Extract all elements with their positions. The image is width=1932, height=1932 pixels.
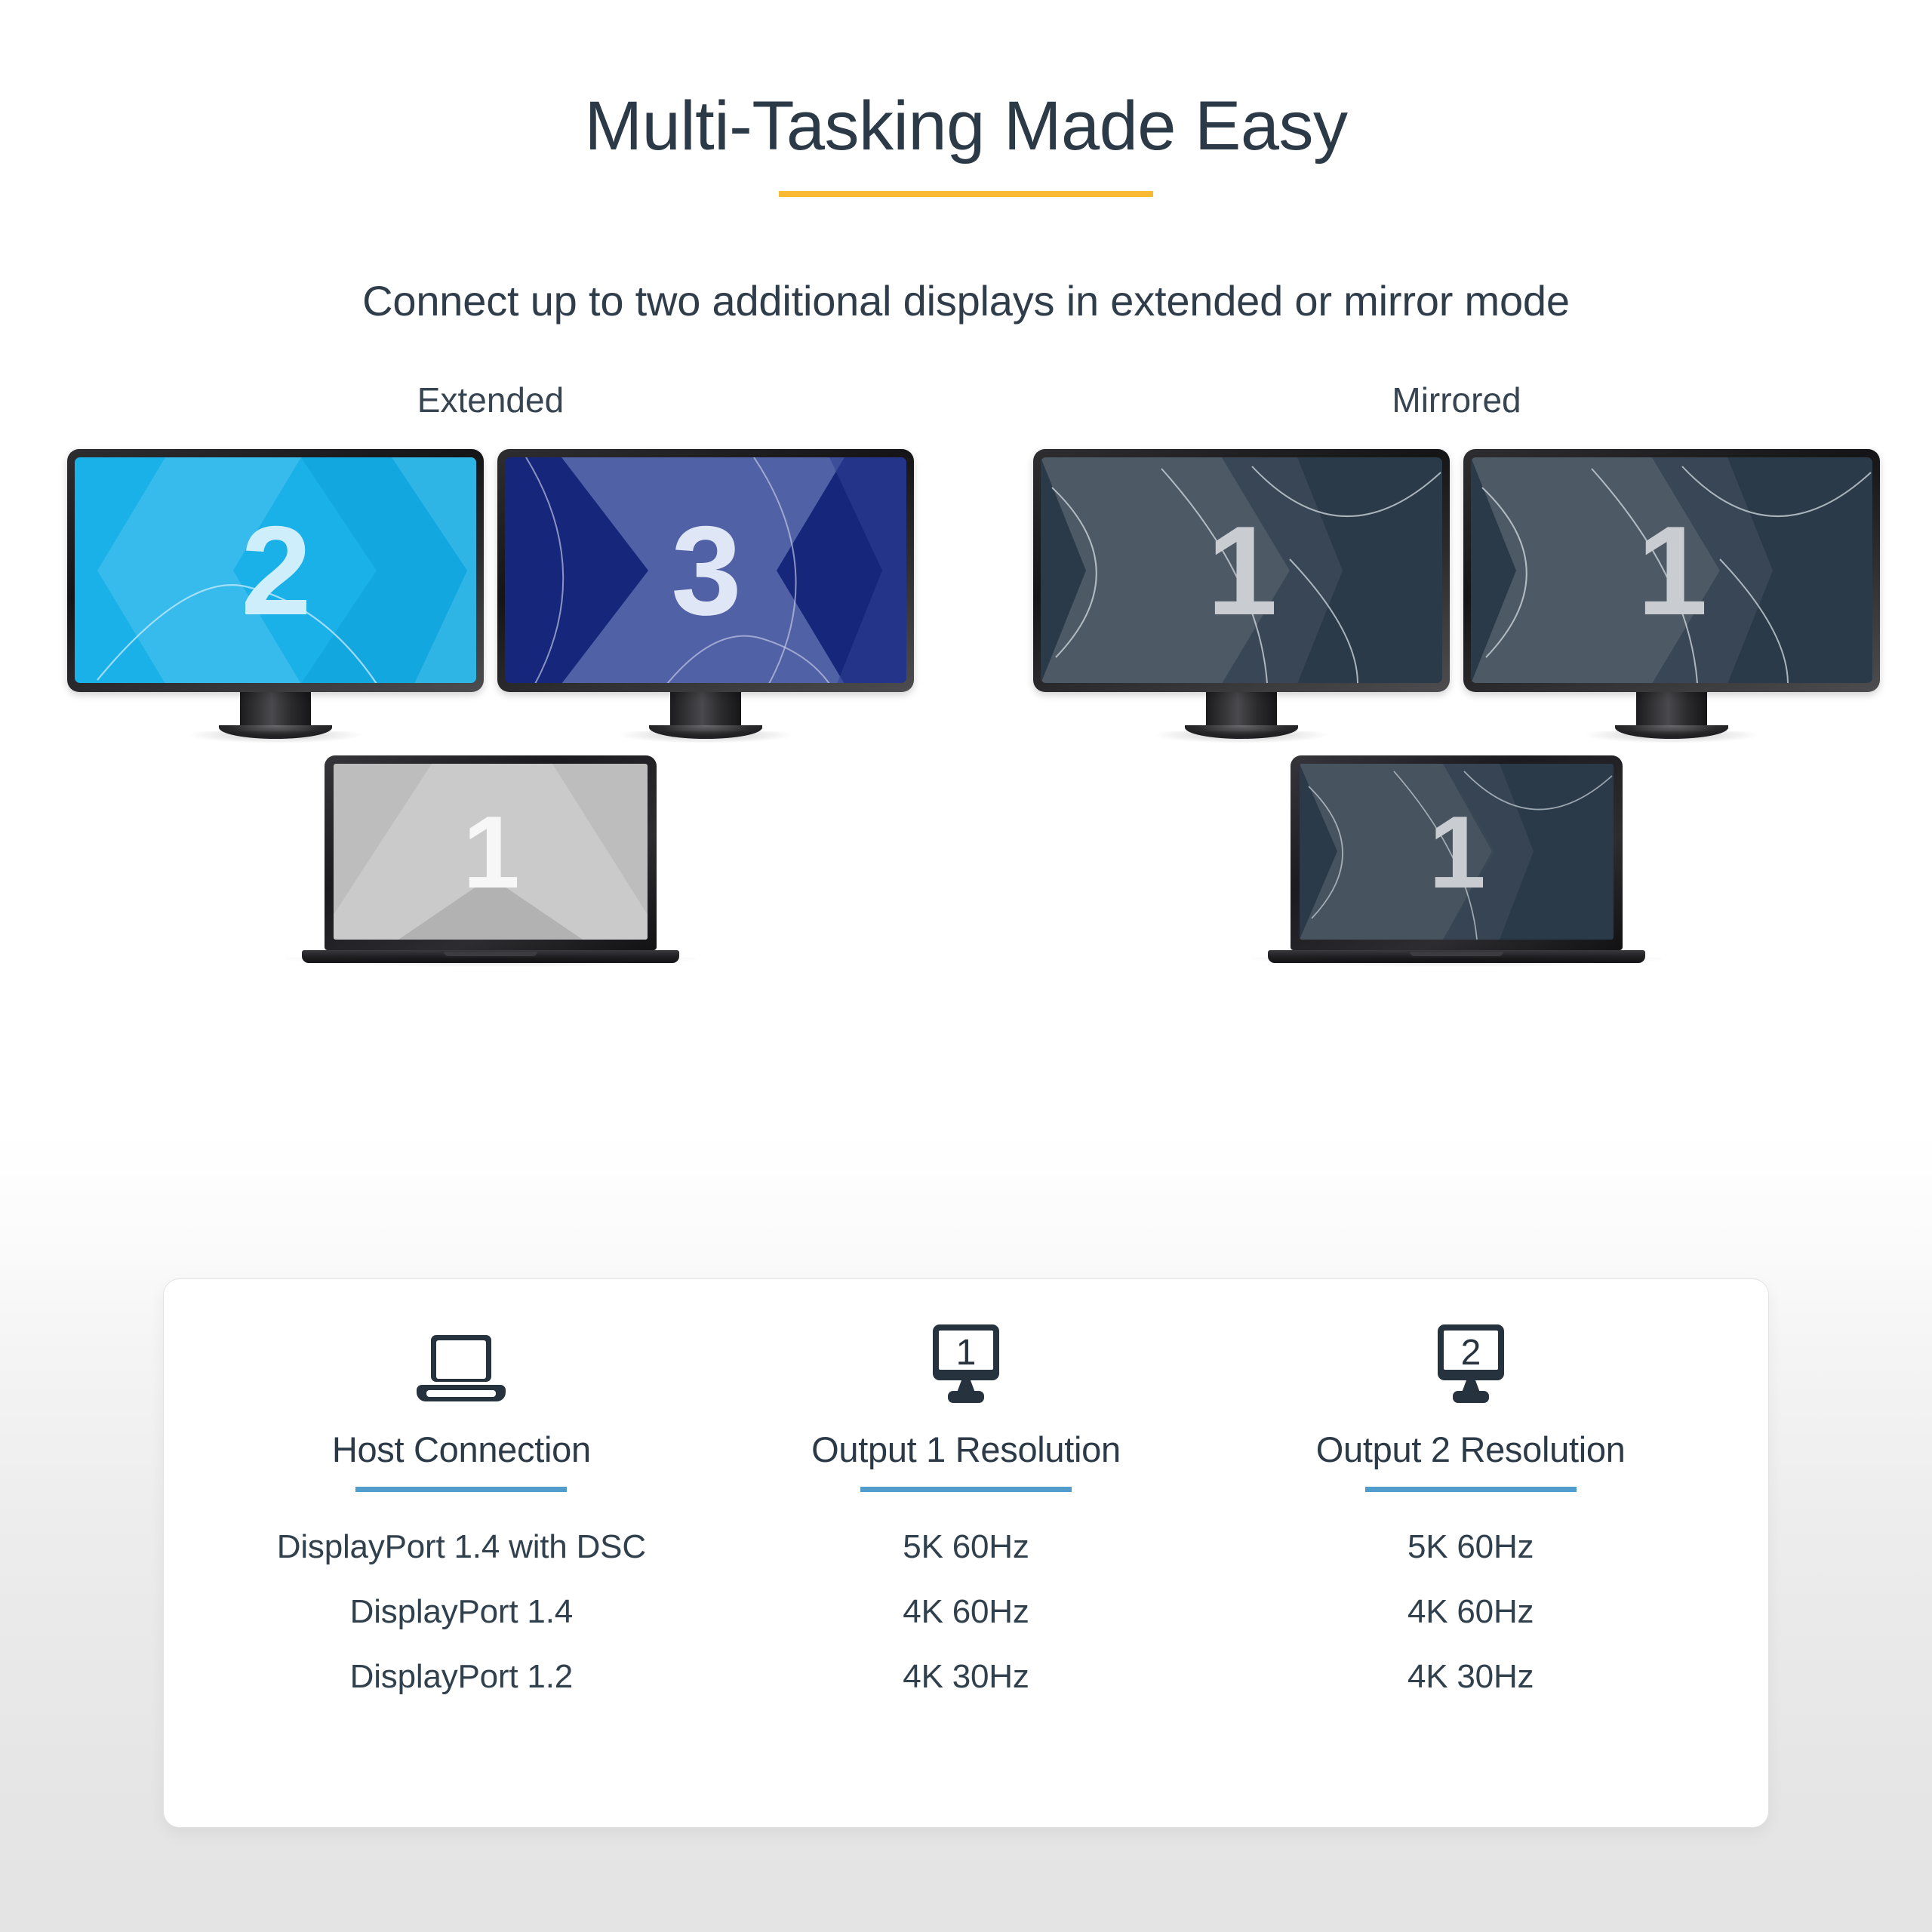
monitor-neck xyxy=(670,692,741,725)
mode-group-extended: Extended 2 xyxy=(45,380,936,963)
spec-column-rule xyxy=(1365,1487,1577,1492)
spec-column-output1: 1 Output 1 Resolution xyxy=(714,1318,1219,1492)
monitor-foot xyxy=(649,725,762,739)
monitor-extended-3: 3 xyxy=(497,449,914,739)
page-subtitle: Connect up to two additional displays in… xyxy=(0,276,1932,325)
monitor-screen-number: 1 xyxy=(1471,457,1872,683)
cell-host: DisplayPort 1.4 with DSC xyxy=(209,1528,714,1566)
mode-group-mirrored: Mirrored 1 xyxy=(1011,380,1902,963)
monitor-screen-number: 3 xyxy=(505,457,906,683)
svg-text:1: 1 xyxy=(956,1333,977,1373)
monitor-mirrored-1b: 1 xyxy=(1463,449,1880,739)
monitor-extended-2: 2 xyxy=(67,449,484,739)
table-row: DisplayPort 1.4 with DSC 5K 60Hz 5K 60Hz xyxy=(209,1528,1723,1566)
page-title: Multi-Tasking Made Easy xyxy=(0,89,1932,164)
laptop-extended: 1 xyxy=(302,755,679,963)
spec-table-header: Host Connection 1 Output 1 Resolution xyxy=(164,1279,1768,1492)
monitor-neck xyxy=(1636,692,1707,725)
cell-output1: 4K 60Hz xyxy=(714,1593,1219,1631)
monitor-bezel: 2 xyxy=(67,449,484,692)
monitor-neck xyxy=(240,692,311,725)
monitor-foot xyxy=(1185,725,1298,739)
laptop-base xyxy=(1268,950,1645,963)
spec-column-rule xyxy=(860,1487,1072,1492)
mode-label-extended: Extended xyxy=(45,380,936,420)
cell-host: DisplayPort 1.4 xyxy=(209,1593,714,1631)
cell-output2: 4K 30Hz xyxy=(1218,1658,1723,1696)
display-mode-diagram: Extended 2 xyxy=(0,380,1932,983)
monitor-bezel: 1 xyxy=(1463,449,1880,692)
title-accent-rule xyxy=(779,191,1153,197)
page-header: Multi-Tasking Made Easy Connect up to tw… xyxy=(0,0,1932,325)
table-row: DisplayPort 1.4 4K 60Hz 4K 60Hz xyxy=(209,1593,1723,1631)
cell-output2: 5K 60Hz xyxy=(1218,1528,1723,1566)
laptop-wrap-mirrored: 1 xyxy=(1011,755,1902,963)
cell-output1: 4K 30Hz xyxy=(714,1658,1219,1696)
laptop-lid: 1 xyxy=(1291,755,1623,950)
laptop-screen-number: 1 xyxy=(334,764,648,940)
laptop-icon xyxy=(209,1318,714,1412)
laptop-wrap-extended: 1 xyxy=(45,755,936,963)
spec-column-title: Host Connection xyxy=(209,1429,714,1470)
svg-text:2: 2 xyxy=(1460,1333,1481,1373)
monitor-foot xyxy=(1615,725,1728,739)
monitor-screen: 1 xyxy=(1041,457,1442,683)
monitor-row-extended: 2 xyxy=(45,449,936,739)
spec-column-title: Output 1 Resolution xyxy=(714,1429,1219,1470)
monitor-screen: 3 xyxy=(505,457,906,683)
laptop-screen-number: 1 xyxy=(1300,764,1614,940)
laptop-base xyxy=(302,950,679,963)
monitor-screen-number: 1 xyxy=(1041,457,1442,683)
cell-output2: 4K 60Hz xyxy=(1218,1593,1723,1631)
monitor-1-icon: 1 xyxy=(714,1318,1219,1412)
cell-output1: 5K 60Hz xyxy=(714,1528,1219,1566)
cell-host: DisplayPort 1.2 xyxy=(209,1658,714,1696)
monitor-foot xyxy=(219,725,332,739)
monitor-screen-number: 2 xyxy=(75,457,476,683)
monitor-neck xyxy=(1206,692,1277,725)
laptop-screen: 1 xyxy=(334,764,648,940)
monitor-screen: 2 xyxy=(75,457,476,683)
monitor-2-icon: 2 xyxy=(1218,1318,1723,1412)
monitor-bezel: 1 xyxy=(1033,449,1450,692)
laptop-screen: 1 xyxy=(1300,764,1614,940)
monitor-screen: 1 xyxy=(1471,457,1872,683)
table-row: DisplayPort 1.2 4K 30Hz 4K 30Hz xyxy=(209,1658,1723,1696)
spec-table-card: Host Connection 1 Output 1 Resolution xyxy=(163,1278,1769,1828)
monitor-row-mirrored: 1 xyxy=(1011,449,1902,739)
spec-table-body: DisplayPort 1.4 with DSC 5K 60Hz 5K 60Hz… xyxy=(164,1528,1768,1696)
spec-column-title: Output 2 Resolution xyxy=(1218,1429,1723,1470)
mode-label-mirrored: Mirrored xyxy=(1011,380,1902,420)
laptop-lid: 1 xyxy=(325,755,657,950)
laptop-mirrored: 1 xyxy=(1268,755,1645,963)
spec-column-host: Host Connection xyxy=(209,1318,714,1492)
monitor-mirrored-1a: 1 xyxy=(1033,449,1450,739)
monitor-bezel: 3 xyxy=(497,449,914,692)
spec-column-rule xyxy=(355,1487,567,1492)
spec-column-output2: 2 Output 2 Resolution xyxy=(1218,1318,1723,1492)
